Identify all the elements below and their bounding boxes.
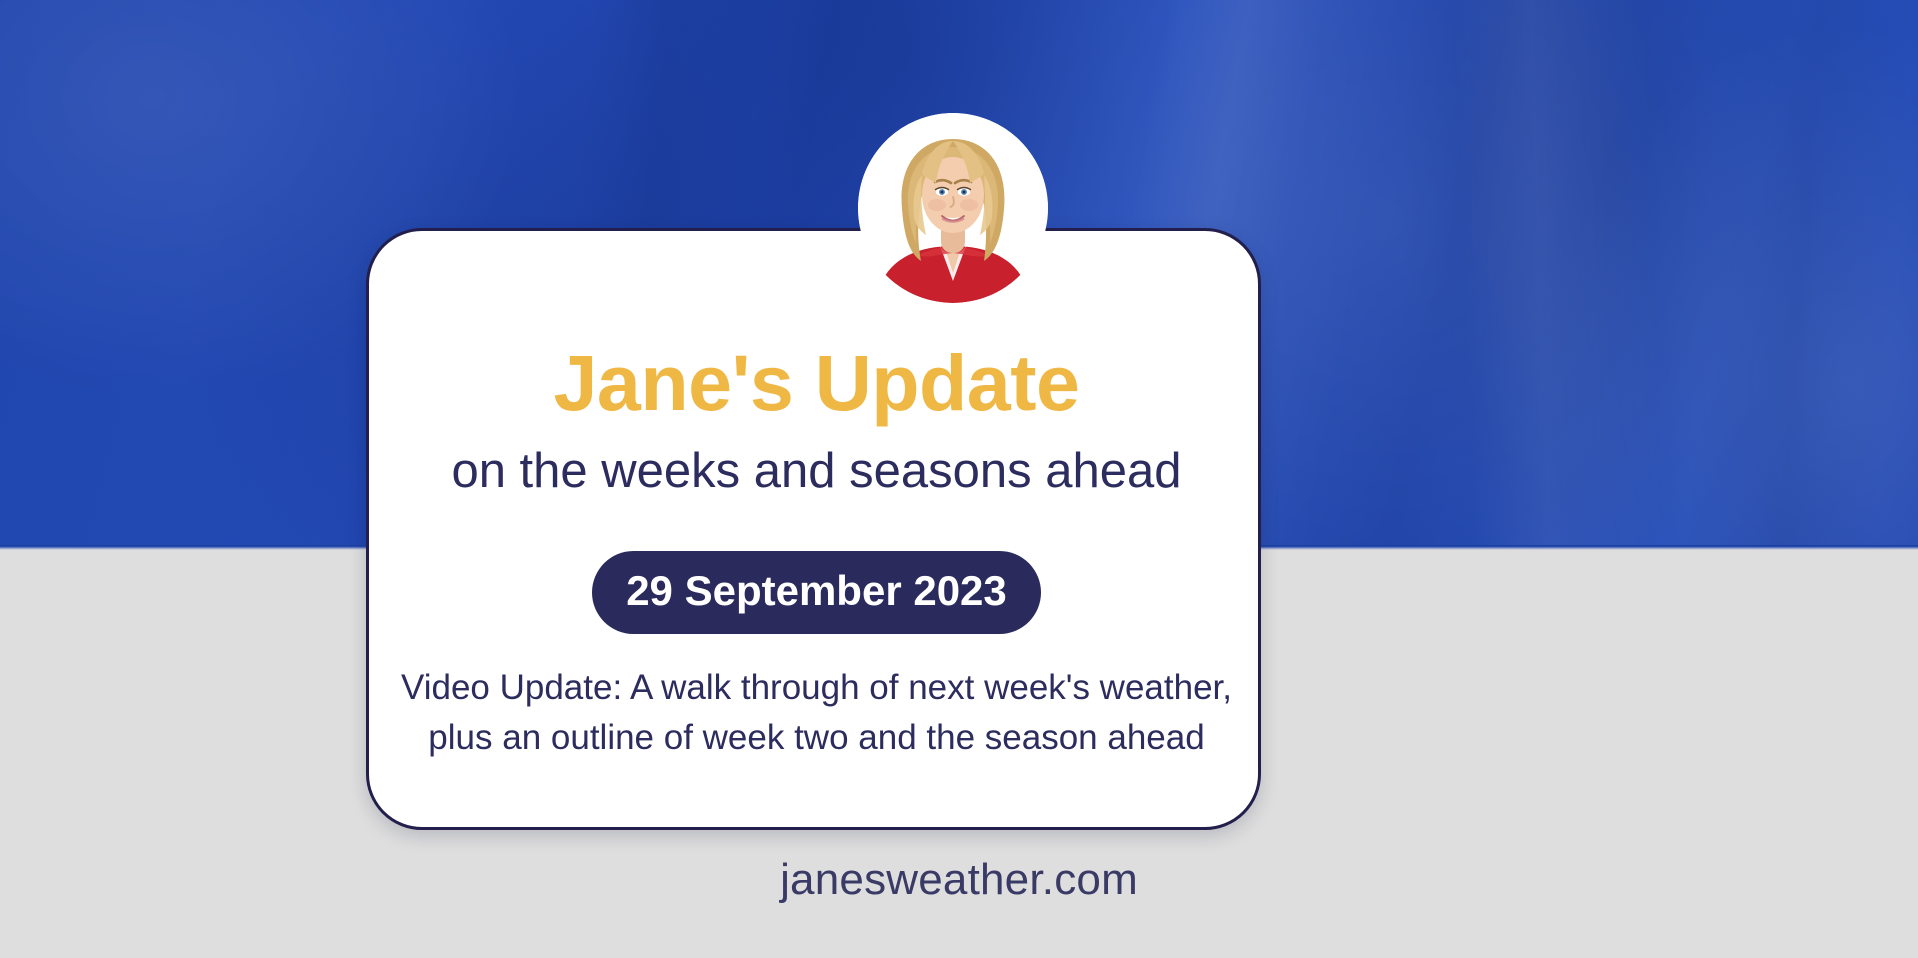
update-card: Jane's Update on the weeks and seasons a… [366, 228, 1261, 830]
footer-website-url: janesweather.com [0, 858, 1918, 902]
promo-graphic: Jane's Update on the weeks and seasons a… [0, 0, 1918, 958]
description-text: Video Update: A walk through of next wee… [369, 663, 1264, 762]
description-line-1: Video Update: A walk through of next wee… [369, 663, 1264, 713]
update-card-content: Jane's Update on the weeks and seasons a… [369, 231, 1258, 827]
description-line-2: plus an outline of week two and the seas… [369, 713, 1264, 763]
page-subtitle: on the weeks and seasons ahead [369, 446, 1264, 497]
date-badge-container: 29 September 2023 [369, 551, 1264, 634]
page-title: Jane's Update [369, 343, 1264, 422]
avatar [858, 113, 1048, 303]
status-badge: 29 September 2023 [592, 551, 1041, 634]
